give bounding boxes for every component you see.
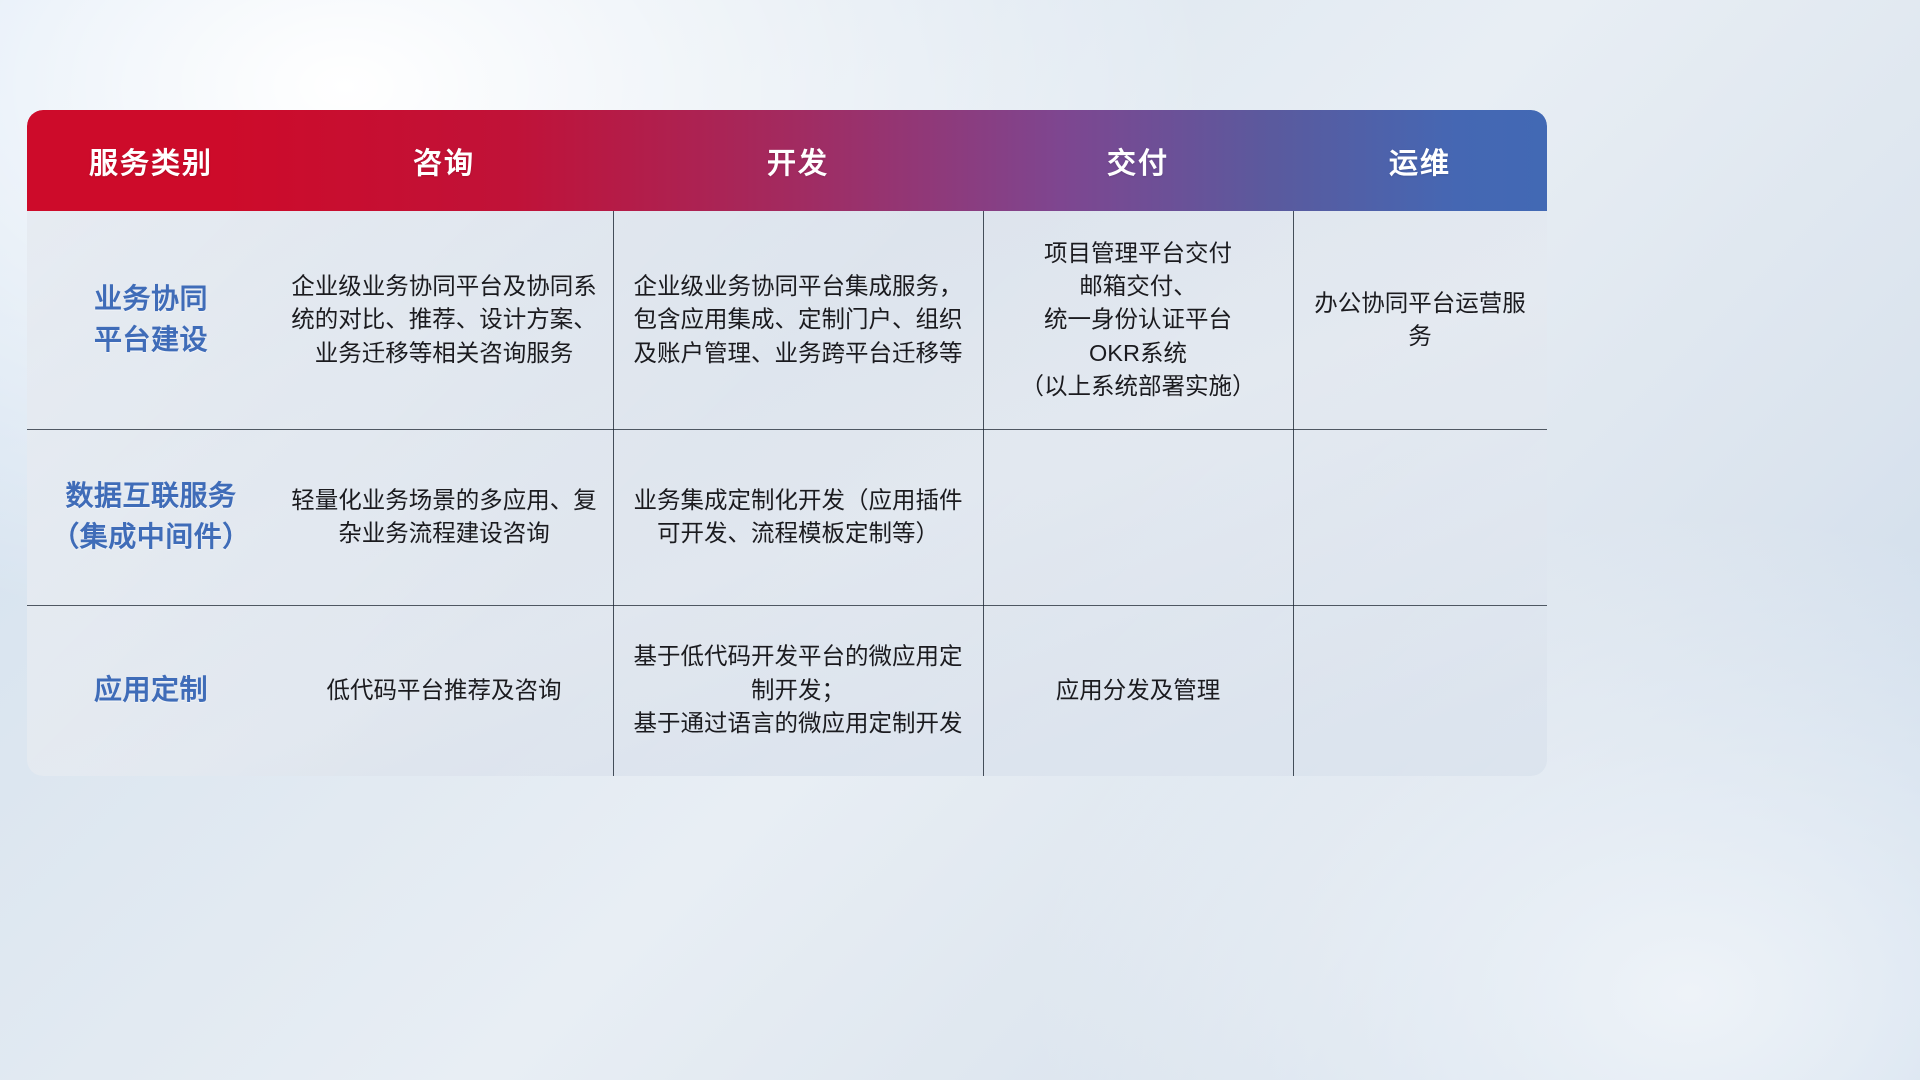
column-header-consulting: 咨询 — [275, 110, 613, 211]
cell-operations: 办公协同平台运营服务 — [1293, 211, 1547, 429]
column-header-label: 交付 — [1107, 140, 1169, 182]
column-header-label: 服务类别 — [89, 140, 213, 182]
column-header-operations: 运维 — [1293, 110, 1547, 211]
slide-canvas: 服务类别 咨询 开发 交付 运维 业务协同 平台建设 企业级业务协同平台及协同系… — [0, 0, 1920, 1080]
cell-text: 企业级业务协同平台及协同系 统的对比、推荐、设计方案、 业务迁移等相关咨询服务 — [291, 270, 597, 370]
column-header-label: 运维 — [1389, 140, 1451, 182]
cell-text: 办公协同平台运营服务 — [1305, 287, 1535, 354]
row-label: 数据互联服务 （集成中间件） — [51, 476, 251, 557]
table-row: 应用定制 低代码平台推荐及咨询 基于低代码开发平台的微应用定 制开发； 基于通过… — [27, 605, 1547, 776]
cell-development: 基于低代码开发平台的微应用定 制开发； 基于通过语言的微应用定制开发 — [613, 605, 983, 776]
column-header-label: 咨询 — [413, 140, 475, 182]
row-label: 业务协同 平台建设 — [94, 279, 208, 360]
cell-delivery — [983, 429, 1293, 605]
column-header-development: 开发 — [613, 110, 983, 211]
cell-text: 项目管理平台交付 邮箱交付、 统一身份认证平台 OKR系统 （以上系统部署实施） — [1021, 237, 1256, 404]
cell-consulting: 低代码平台推荐及咨询 — [275, 605, 613, 776]
cell-text: 企业级业务协同平台集成服务， 包含应用集成、定制门户、组织 及账户管理、业务跨平… — [634, 270, 963, 370]
cell-text: 基于低代码开发平台的微应用定 制开发； 基于通过语言的微应用定制开发 — [634, 640, 963, 740]
cell-operations — [1293, 429, 1547, 605]
cell-development: 企业级业务协同平台集成服务， 包含应用集成、定制门户、组织 及账户管理、业务跨平… — [613, 211, 983, 429]
cell-consulting: 轻量化业务场景的多应用、复 杂业务流程建设咨询 — [275, 429, 613, 605]
cell-text: 应用分发及管理 — [1056, 674, 1221, 707]
column-header-category: 服务类别 — [27, 110, 275, 211]
table-row: 数据互联服务 （集成中间件） 轻量化业务场景的多应用、复 杂业务流程建设咨询 业… — [27, 429, 1547, 605]
cell-delivery: 项目管理平台交付 邮箱交付、 统一身份认证平台 OKR系统 （以上系统部署实施） — [983, 211, 1293, 429]
row-label-cell: 数据互联服务 （集成中间件） — [27, 429, 275, 605]
cell-text: 业务集成定制化开发（应用插件 可开发、流程模板定制等） — [634, 484, 963, 551]
cell-text: 低代码平台推荐及咨询 — [327, 674, 562, 707]
cell-text: 轻量化业务场景的多应用、复 杂业务流程建设咨询 — [291, 484, 597, 551]
cell-delivery: 应用分发及管理 — [983, 605, 1293, 776]
service-matrix-table: 服务类别 咨询 开发 交付 运维 业务协同 平台建设 企业级业务协同平台及协同系… — [27, 110, 1547, 776]
column-header-delivery: 交付 — [983, 110, 1293, 211]
cell-consulting: 企业级业务协同平台及协同系 统的对比、推荐、设计方案、 业务迁移等相关咨询服务 — [275, 211, 613, 429]
cell-operations — [1293, 605, 1547, 776]
table-header-row: 服务类别 咨询 开发 交付 运维 — [27, 110, 1547, 211]
column-header-label: 开发 — [767, 140, 829, 182]
table-body: 业务协同 平台建设 企业级业务协同平台及协同系 统的对比、推荐、设计方案、 业务… — [27, 211, 1547, 776]
table-row: 业务协同 平台建设 企业级业务协同平台及协同系 统的对比、推荐、设计方案、 业务… — [27, 211, 1547, 429]
row-label: 应用定制 — [94, 670, 208, 711]
cell-development: 业务集成定制化开发（应用插件 可开发、流程模板定制等） — [613, 429, 983, 605]
row-label-cell: 业务协同 平台建设 — [27, 211, 275, 429]
row-label-cell: 应用定制 — [27, 605, 275, 776]
